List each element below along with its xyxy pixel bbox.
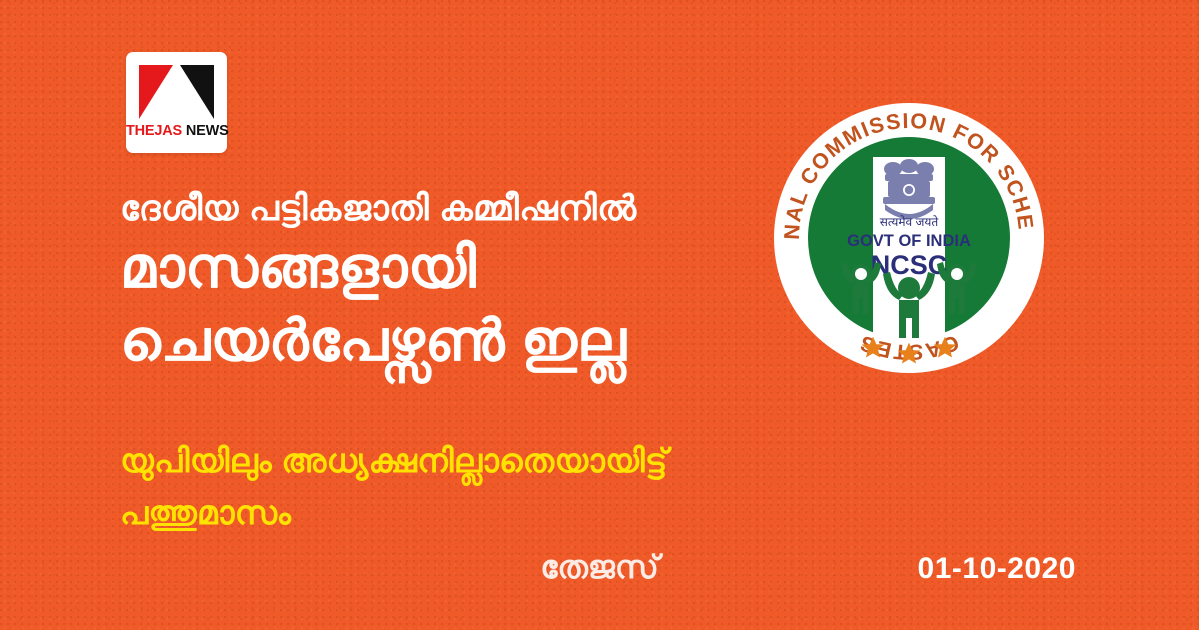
logo-triangles bbox=[137, 65, 216, 119]
headline-line-1: മാസങ്ങളായി bbox=[120, 232, 900, 305]
headline-line-2: ചെയർപേഴ്സൺ ഇല്ല bbox=[120, 305, 900, 378]
subheadline-line-2: പത്തുമാസം bbox=[120, 487, 920, 539]
black-triangle-icon bbox=[180, 65, 214, 119]
logo-word-news: NEWS bbox=[182, 123, 229, 139]
news-graphic-card: THEJAS NEWS NATIONAL COMMISSION FOR SCHE… bbox=[0, 0, 1199, 630]
subheadline-block: യുപിയിലും അധ്യക്ഷനില്ലാതെയായിട്ട് പത്തുമ… bbox=[120, 435, 920, 539]
subheadline-line-1: യുപിയിലും അധ്യക്ഷനില്ലാതെയായിട്ട് bbox=[120, 435, 920, 487]
headline-block: ദേശീയ പട്ടികജാതി കമ്മീഷനിൽ മാസങ്ങളായി ചെ… bbox=[120, 186, 900, 378]
headline-kicker: ദേശീയ പട്ടികജാതി കമ്മീഷനിൽ bbox=[120, 186, 900, 232]
date-stamp: 01-10-2020 bbox=[918, 552, 1076, 586]
red-triangle-icon bbox=[139, 65, 173, 119]
thejas-news-logo[interactable]: THEJAS NEWS bbox=[126, 52, 227, 153]
logo-wordmark: THEJAS NEWS bbox=[126, 123, 227, 139]
logo-word-thejas: THEJAS bbox=[126, 123, 182, 139]
